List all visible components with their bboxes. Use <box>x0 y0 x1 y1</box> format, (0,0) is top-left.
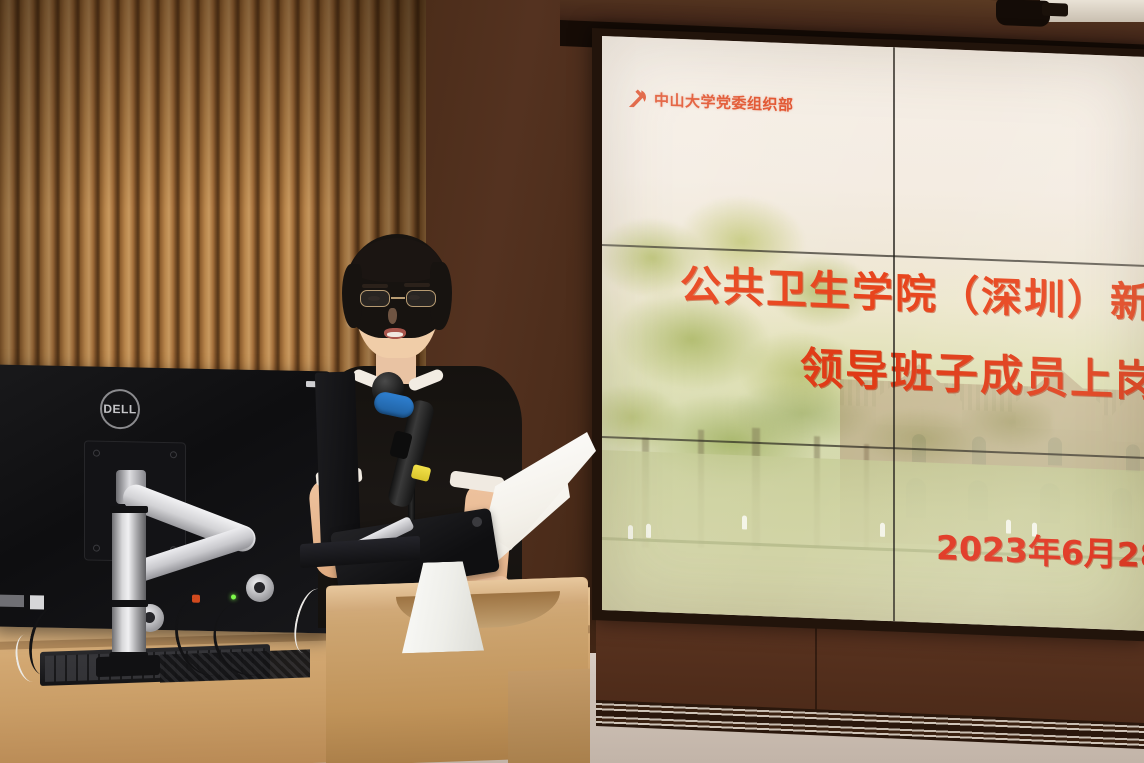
monitor-arm-joint-hole <box>254 582 265 593</box>
glasses-icon <box>358 290 438 308</box>
tablet-camera-icon <box>471 516 482 527</box>
monitor-service-label <box>0 595 24 608</box>
monitor-arm-joint[interactable] <box>246 574 274 602</box>
glasses-lens <box>360 290 390 307</box>
slide-figure <box>880 523 885 537</box>
podium-side-panel <box>508 669 590 763</box>
monitor-arm-collar <box>110 506 148 513</box>
vesa-hole <box>93 545 100 552</box>
speaker-eyebrow <box>404 283 430 287</box>
vesa-hole <box>93 450 100 457</box>
dell-logo: DELL <box>100 389 140 430</box>
wall-panel-seam <box>815 618 817 714</box>
glasses-bridge <box>391 297 405 299</box>
speaker-eyebrow <box>362 284 388 288</box>
hammer-and-sickle-icon <box>624 85 650 112</box>
speaker-mouth <box>384 328 406 339</box>
glasses-lens <box>406 290 436 307</box>
building-window <box>1048 437 1062 466</box>
monitor-power-led <box>231 594 236 599</box>
slide-figure <box>646 524 651 538</box>
vesa-hole <box>170 451 177 458</box>
videowall-display[interactable]: 中山大学党委组织部 公共卫生学院（深圳）新 领导班子成员上岗会 2023年6月2… <box>602 36 1144 631</box>
monitor-arm-base <box>96 655 160 677</box>
ceiling-camera-icon <box>996 0 1050 27</box>
monitor-arm-collar <box>110 600 148 607</box>
videowall-bezel-seam-vertical <box>893 47 895 621</box>
monitor-sticker <box>30 595 44 609</box>
slide-logo-text: 中山大学党委组织部 <box>654 88 794 114</box>
conference-room-scene: 中山大学党委组织部 公共卫生学院（深圳）新 领导班子成员上岗会 2023年6月2… <box>0 0 1144 763</box>
slide-figure <box>628 525 633 539</box>
slide-figure <box>742 515 747 529</box>
speaker-nose <box>388 308 397 324</box>
monitor-arm-post[interactable] <box>112 508 146 672</box>
